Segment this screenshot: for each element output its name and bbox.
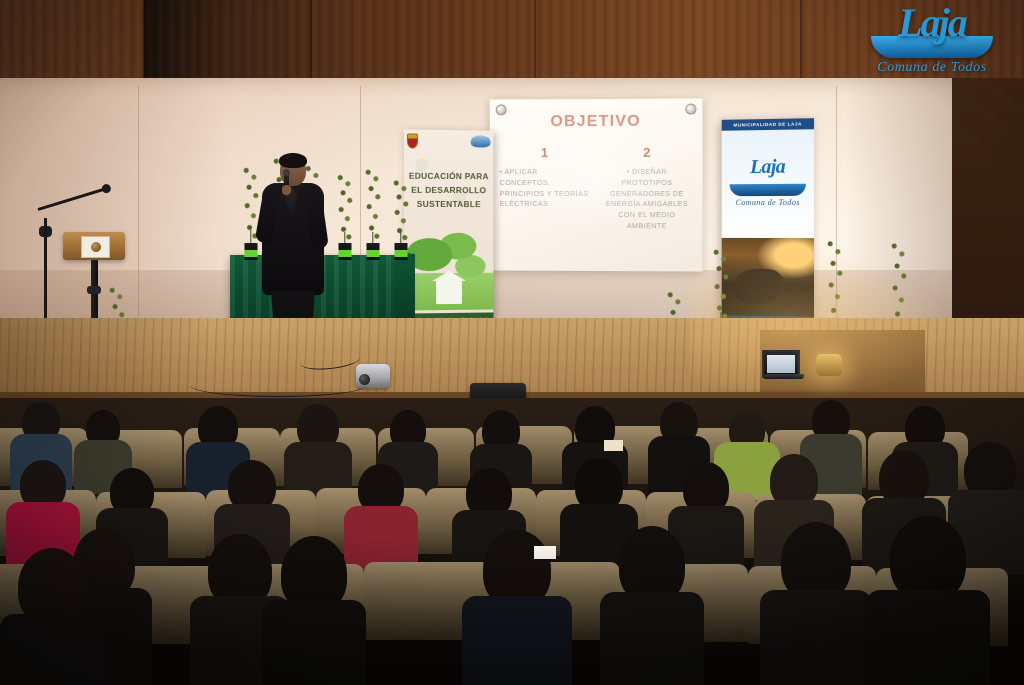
audience-member [866, 516, 990, 685]
municipal-shield-icon [407, 133, 418, 148]
slide-column-2-body: DISEÑAR PROTOTIPOS GENERADORES DE ENERGÍ… [606, 168, 688, 230]
banner-right-tagline: Comuna de Todos [722, 198, 814, 207]
slide-columns: 1 • APLICAR CONCEPTOS, PRINCIPIOS Y TEOR… [496, 145, 697, 232]
banner-educacion-sustentable: EDUCACIÓN PARA EL DESARROLLO SUSTENTABLE… [404, 129, 494, 326]
slide-column-1: 1 • APLICAR CONCEPTOS, PRINCIPIOS Y TEOR… [496, 145, 594, 232]
slide-column-1-text: • APLICAR CONCEPTOS, PRINCIPIOS Y TEORÍA… [496, 167, 594, 210]
slide-column-1-body: APLICAR CONCEPTOS, PRINCIPIOS Y TEORÍAS … [500, 168, 589, 208]
slide-column-2: 2 • DISEÑAR PROTOTIPOS GENERADORES DE EN… [597, 145, 696, 232]
lectern-plate [81, 236, 110, 258]
slide-bullet-1: • [500, 168, 503, 176]
stage-light-housing [816, 354, 842, 376]
audience-member [262, 536, 366, 685]
slide-column-2-number: 2 [597, 145, 696, 160]
hair-bow-icon [534, 546, 556, 559]
lectern-emblem-icon [91, 242, 101, 252]
banner-right-swoosh-icon [730, 184, 806, 196]
banner-right-brandblock: Laja Comuna de Todos [722, 129, 814, 238]
slide-column-2-text: • DISEÑAR PROTOTIPOS GENERADORES DE ENER… [597, 167, 696, 232]
presentation-photo: OBJETIVO 1 • APLICAR CONCEPTOS, PRINCIPI… [0, 0, 1024, 685]
slide-title: OBJETIVO [490, 113, 703, 132]
sapling-plant [360, 152, 386, 260]
audience-member [0, 548, 104, 685]
audience-member [600, 526, 704, 685]
banner-right-wordmark: Laja [722, 155, 814, 179]
sapling-plant [388, 164, 414, 260]
banner-right-landscape-photo [722, 238, 814, 317]
banner-house-icon [436, 280, 462, 304]
projection-screen: OBJETIVO 1 • APLICAR CONCEPTOS, PRINCIPI… [490, 98, 703, 271]
stage-light [812, 350, 846, 380]
microphone-cable [190, 374, 366, 397]
laptop-keyboard [763, 374, 805, 379]
banner-municipalidad-laja: MUNICIPALIDAD DE LAJA Laja Comuna de Tod… [722, 118, 814, 328]
presenter-hand [282, 185, 291, 195]
presenter-hair [279, 153, 307, 168]
slide-column-1-number: 1 [496, 145, 594, 160]
laptop [762, 350, 804, 380]
banner-left-title: EDUCACIÓN PARA EL DESARROLLO SUSTENTABLE [404, 170, 494, 212]
audience-member [760, 522, 872, 685]
banner-logo-row [407, 132, 491, 149]
auditorium-house [0, 398, 1024, 685]
lectern-top [63, 232, 125, 260]
audience-member [284, 404, 352, 496]
sapling-plant [332, 158, 358, 260]
lectern-height-knob [87, 286, 101, 294]
wave-logo-icon [471, 135, 491, 147]
hair-bow-icon [604, 440, 623, 451]
green-drape-fold [395, 252, 415, 324]
banner-right-lake [734, 269, 782, 304]
slide-bullet-2: • [627, 168, 630, 176]
